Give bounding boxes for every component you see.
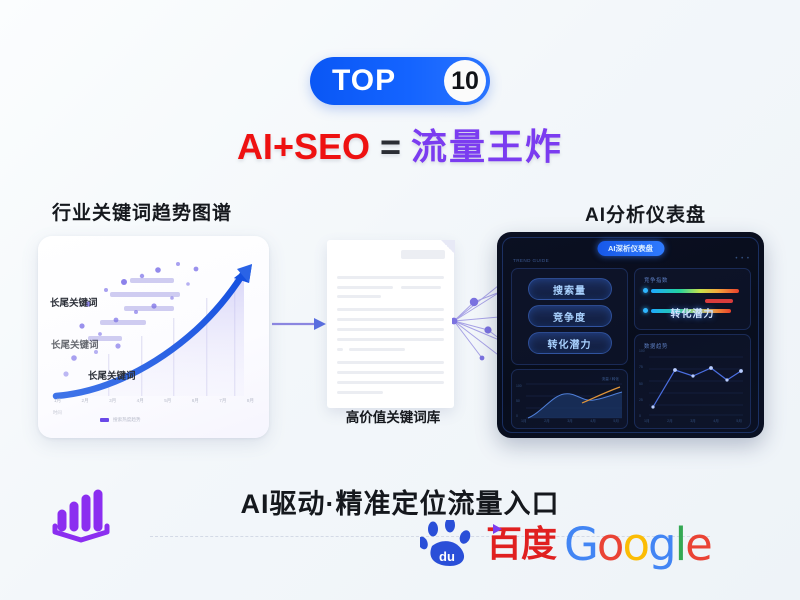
chart-axis-note: 时间 (53, 410, 62, 416)
slide-canvas: TOP 10 AI+SEO=流量王炸 行业关键词趋势图谱 AI分析仪表盘 (0, 0, 800, 600)
legend-swatch-icon (100, 418, 109, 422)
headline-left: AI+SEO (237, 126, 370, 167)
svg-text:du: du (439, 549, 455, 564)
baidu-paw-icon: du (420, 520, 482, 568)
caption-left: 行业关键词趋势图谱 (52, 198, 232, 225)
gauge-chip (705, 299, 733, 303)
gauge-marker-icon (643, 308, 648, 313)
google-letter: g (648, 518, 675, 571)
area-chart-x-ticks: 1月 2月 3月 4月 5月 (521, 419, 619, 424)
flow-arrow-icon (272, 316, 328, 332)
x-tick: 5月 (613, 419, 619, 424)
chart-legend: 搜索热度趋势 (100, 417, 141, 423)
legend-label: 搜索热度趋势 (113, 417, 141, 423)
dashboard-title-pill: AI深析仪表盘 (597, 241, 664, 256)
keyword-library-document (327, 240, 454, 408)
x-tick: 1月 (521, 419, 527, 424)
kpi-pill-conversion[interactable]: 转化潜力 (528, 332, 612, 354)
doc-header-chip (401, 250, 445, 259)
x-tick: 4月 (590, 419, 596, 424)
top-label: TOP (332, 66, 396, 96)
dashboard-menu-icon[interactable]: • • • (735, 256, 750, 262)
google-letter: o (597, 518, 623, 571)
top-rank-badge: TOP 10 (310, 57, 490, 105)
caption-right: AI分析仪表盘 (585, 200, 706, 227)
gauge-overlay-label: 转化潜力 (671, 305, 715, 320)
google-letter: e (685, 518, 711, 571)
x-tick: 2月 (667, 419, 673, 424)
x-tick: 4月 (713, 419, 719, 424)
google-letter: o (622, 518, 648, 571)
x-tick: 3月 (109, 398, 116, 404)
trend-line-panel: 数据趋势 100 75 50 25 0 (634, 334, 751, 429)
kpi-pill-competition[interactable]: 竞争度 (528, 305, 612, 327)
chart-x-axis-ticks: 1月 2月 3月 4月 5月 6月 7月 8月 (54, 398, 254, 404)
google-letter: l (675, 518, 686, 571)
kpi-pill-search-volume[interactable]: 搜索量 (528, 278, 612, 300)
rank-circle: 10 (444, 60, 486, 102)
x-tick: 3月 (690, 419, 696, 424)
google-wordmark: Google (564, 522, 711, 567)
gauge-marker-icon (643, 288, 648, 293)
x-tick: 7月 (219, 398, 226, 404)
chart-annotation-3: 长尾关键词 (88, 368, 136, 382)
play-arrow-icon (493, 524, 502, 534)
dashboard-brand-label: TREND GUIDE (513, 258, 549, 263)
x-tick: 2月 (544, 419, 550, 424)
line-chart-svg (635, 335, 750, 428)
kpi-panel: 搜索量 竞争度 转化潜力 (511, 268, 628, 365)
area-chart-panel: 流量 / 转化 100 50 0 1月 2月 3月 4月 5月 (511, 369, 628, 429)
tagline: AI驱动·精准定位流量入口 (0, 482, 800, 521)
google-letter: G (564, 518, 597, 571)
doc-corner-fold (441, 240, 455, 254)
x-tick: 1月 (644, 419, 650, 424)
headline-equals: = (380, 126, 401, 167)
rank-number: 10 (451, 69, 479, 94)
chart-annotation-1: 长尾关键词 (50, 295, 98, 309)
x-tick: 1月 (54, 398, 61, 404)
bar-chart-icon (48, 486, 114, 544)
x-tick: 5月 (736, 419, 742, 424)
x-tick: 5月 (164, 398, 171, 404)
chart-annotation-2: 长尾关键词 (51, 337, 99, 351)
x-tick: 8月 (247, 398, 254, 404)
x-tick: 6月 (192, 398, 199, 404)
doc-caption: 高价值关键词库 (329, 406, 457, 426)
line-chart-x-ticks: 1月 2月 3月 4月 5月 (644, 419, 742, 424)
x-tick: 4月 (137, 398, 144, 404)
gauge-panel-title: 竞争指数 (644, 276, 668, 284)
x-tick: 2月 (82, 398, 89, 404)
x-tick: 3月 (567, 419, 573, 424)
ai-dashboard: AI深析仪表盘 TREND GUIDE • • • 搜索量 竞争度 转化潜力 流… (497, 232, 764, 438)
search-engine-logos: du 百度 Google (420, 520, 711, 568)
gauge-bar-1 (651, 289, 739, 293)
competition-gauge-panel: 竞争指数 转化潜力 (634, 268, 751, 330)
page-title: AI+SEO=流量王炸 (0, 129, 800, 165)
headline-right: 流量王炸 (411, 126, 563, 167)
keyword-trend-chart-card: 长尾关键词 长尾关键词 长尾关键词 1月 2月 3月 4月 5月 6月 7月 8… (38, 236, 269, 438)
